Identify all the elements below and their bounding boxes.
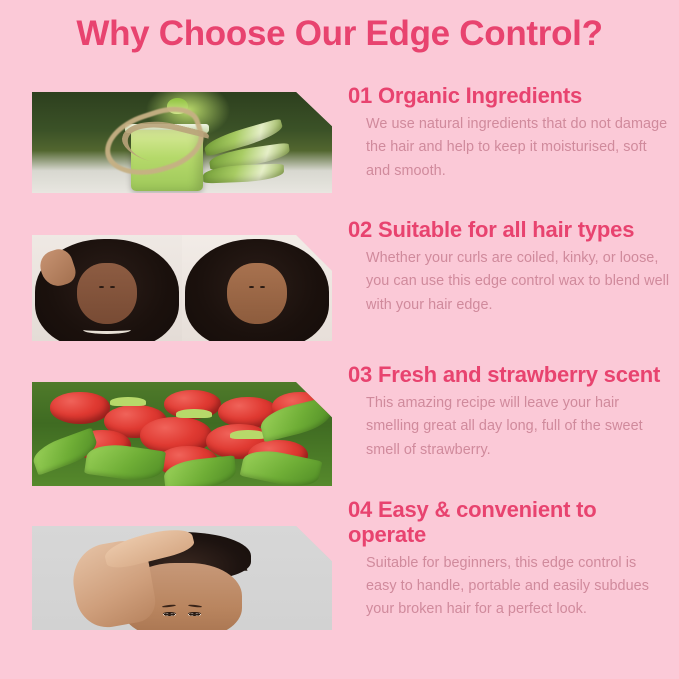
feature-heading-text-03: Fresh and strawberry scent [378,362,660,387]
feature-text-02: 02 Suitable for all hair types Whether y… [348,218,670,317]
feature-body-01: We use natural ingredients that do not d… [366,113,670,183]
feature-number-01: 01 [348,83,372,108]
feature-heading-03: 03 Fresh and strawberry scent [348,363,670,388]
curly-hair-models-photo [32,235,332,341]
feature-number-02: 02 [348,217,372,242]
feature-number-04: 04 [348,497,372,522]
page-title: Why Choose Our Edge Control? [0,14,679,54]
feature-body-02: Whether your curls are coiled, kinky, or… [366,247,670,317]
feature-text-03: 03 Fresh and strawberry scent This amazi… [348,363,670,462]
feature-body-03: This amazing recipe will leave your hair… [366,392,670,462]
feature-image-01 [32,92,332,193]
aloe-vera-gel-photo [32,92,332,193]
feature-text-01: 01 Organic Ingredients We use natural in… [348,84,670,183]
feature-heading-01: 01 Organic Ingredients [348,84,670,109]
feature-image-02 [32,235,332,341]
feature-image-03 [32,382,332,486]
feature-image-04 [32,526,332,630]
feature-heading-text-04: Easy & convenient to operate [348,497,597,547]
strawberries-photo [32,382,332,486]
feature-heading-text-01: Organic Ingredients [378,83,582,108]
feature-heading-04: 04 Easy & convenient to operate [348,498,670,548]
feature-heading-text-02: Suitable for all hair types [378,217,634,242]
feature-text-04: 04 Easy & convenient to operate Suitable… [348,498,670,622]
hairline-edges-photo [32,526,332,630]
feature-body-04: Suitable for beginners, this edge contro… [366,552,670,622]
feature-heading-02: 02 Suitable for all hair types [348,218,670,243]
edge-control-infographic: Why Choose Our Edge Control? [0,0,679,679]
feature-number-03: 03 [348,362,372,387]
